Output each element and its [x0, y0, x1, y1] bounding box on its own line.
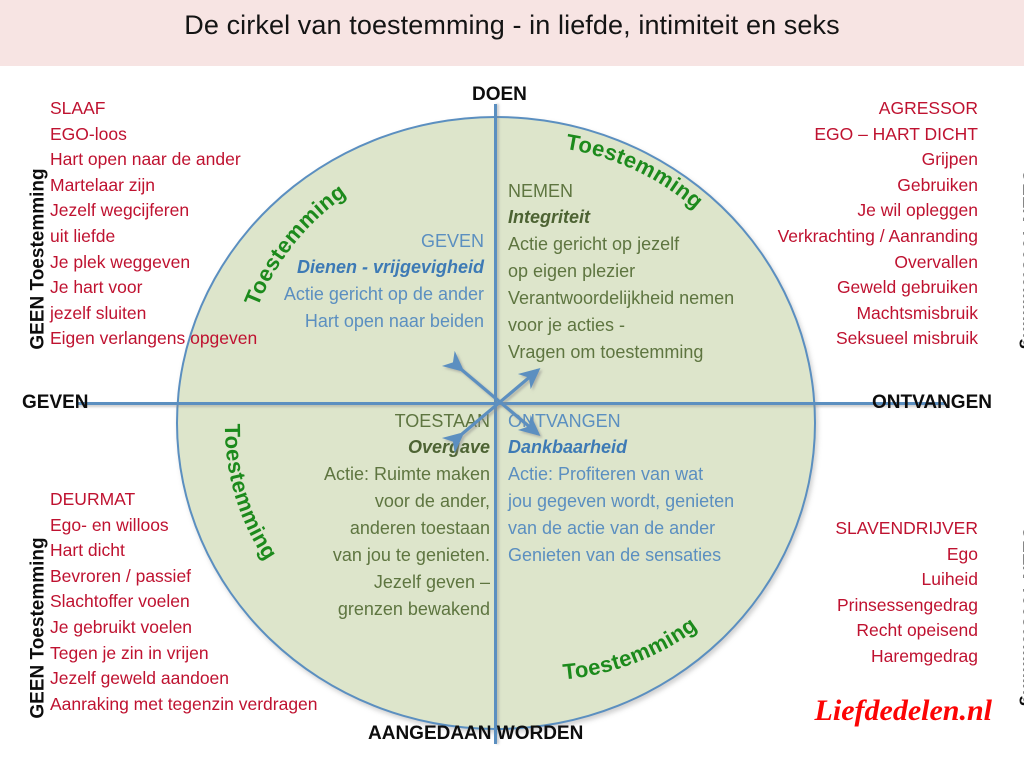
site-logo[interactable]: Liefdedelen.nl [815, 694, 992, 728]
list-slavendrijver: SLAVENDRIJVEREgoLuiheidPrinsessengedragR… [835, 516, 978, 670]
quadrant-geven-body: Actie gericht op de anderHart open naar … [234, 281, 484, 335]
list-item: Jezelf wegcijferen [50, 198, 257, 224]
banner-no-consent-top-left: GEEN Toestemming [28, 168, 50, 349]
quadrant-geven: GEVEN Dienen - vrijgevigheid Actie geric… [234, 228, 484, 335]
list-item: jezelf sluiten [50, 301, 257, 327]
quadrant-nemen-body: Actie gericht op jezelfop eigen plezierV… [508, 231, 838, 366]
text-line: Actie: Profiteren van wat [508, 461, 828, 488]
text-line: van jou te genieten. [250, 542, 490, 569]
list-heading: SLAAF [50, 96, 257, 122]
quadrant-geven-title: GEVEN [234, 228, 484, 254]
axis-label-left: GEVEN [22, 392, 89, 414]
center-arrows [440, 348, 560, 456]
list-item: uit liefde [50, 224, 257, 250]
list-item: Jezelf geweld aandoen [50, 666, 318, 692]
text-line: Genieten van de sensaties [508, 542, 828, 569]
text-line: voor je acties - [508, 312, 838, 339]
text-line: Jezelf geven – [250, 569, 490, 596]
text-line: voor de ander, [250, 488, 490, 515]
list-item: Recht opeisend [835, 618, 978, 644]
text-line: Actie gericht op de ander [234, 281, 484, 308]
list-item: Je plek weggeven [50, 250, 257, 276]
text-line: grenzen bewakend [250, 596, 490, 623]
list-heading: AGRESSOR [778, 96, 978, 122]
quadrant-nemen-subtitle: Integriteit [508, 204, 838, 231]
list-item: Tegen je zin in vrijen [50, 641, 318, 667]
list-heading: SLAVENDRIJVER [835, 516, 978, 542]
banner-no-consent-top-right: GEEN Toestemming [1018, 168, 1024, 349]
list-item: Eigen verlangens opgeven [50, 326, 257, 352]
text-line: Actie gericht op jezelf [508, 231, 838, 258]
diagram-canvas: De cirkel van toestemming - in liefde, i… [0, 0, 1024, 768]
text-line: Hart open naar beiden [234, 308, 484, 335]
quadrant-geven-subtitle: Dienen - vrijgevigheid [234, 254, 484, 281]
axis-label-bottom: AANGEDAAN WORDEN [368, 723, 583, 745]
list-item: Aanraking met tegenzin verdragen [50, 692, 318, 718]
list-slaaf: SLAAFEGO-loosHart open naar de anderMart… [50, 96, 257, 352]
list-item: Haremgedrag [835, 644, 978, 670]
quadrant-nemen-title: NEMEN [508, 178, 838, 204]
list-item: Ego [835, 542, 978, 568]
list-item: Hart open naar de ander [50, 147, 257, 173]
text-line: anderen toestaan [250, 515, 490, 542]
text-line: Verantwoordelijkheid nemen [508, 285, 838, 312]
list-item: Martelaar zijn [50, 173, 257, 199]
quadrant-toestaan-body: Actie: Ruimte makenvoor de ander,anderen… [250, 461, 490, 623]
banner-no-consent-bottom-right: GEEN Toestemming [1018, 525, 1024, 706]
page-title: De cirkel van toestemming - in liefde, i… [0, 10, 1024, 41]
quadrant-ontvangen-body: Actie: Profiteren van watjou gegeven wor… [508, 461, 828, 569]
list-item: Luiheid [835, 567, 978, 593]
list-item: EGO – HART DICHT [778, 122, 978, 148]
quadrant-nemen: NEMEN Integriteit Actie gericht op jezel… [508, 178, 838, 366]
banner-no-consent-bottom-left: GEEN Toestemming [28, 537, 50, 718]
text-line: jou gegeven wordt, genieten [508, 488, 828, 515]
text-line: van de actie van de ander [508, 515, 828, 542]
text-line: Actie: Ruimte maken [250, 461, 490, 488]
list-item: EGO-loos [50, 122, 257, 148]
list-item: Grijpen [778, 147, 978, 173]
list-item: Prinsessengedrag [835, 593, 978, 619]
axis-label-top: DOEN [472, 84, 527, 106]
axis-label-right: ONTVANGEN [872, 392, 992, 414]
text-line: op eigen plezier [508, 258, 838, 285]
list-item: Je hart voor [50, 275, 257, 301]
